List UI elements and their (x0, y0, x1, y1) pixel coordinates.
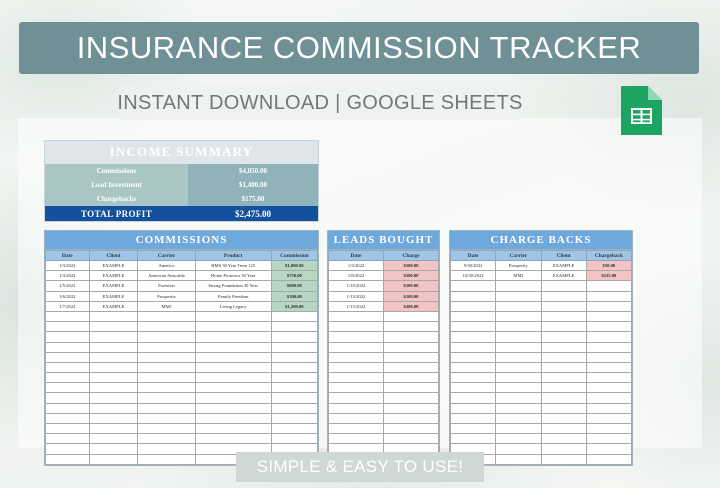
column-header-1: Client (89, 251, 138, 261)
cell-empty[interactable] (541, 403, 586, 413)
cell-date[interactable]: 1/15/2022 (329, 301, 384, 311)
cell-empty[interactable] (586, 362, 631, 372)
cell-client[interactable]: EXAMPLE (541, 261, 586, 271)
table-row-empty[interactable] (46, 413, 318, 423)
table-row-empty[interactable] (46, 393, 318, 403)
cell-empty[interactable] (195, 362, 271, 372)
commissions-table: COMMISSIONS DateClientCarrierProductComm… (44, 230, 319, 466)
cell-empty[interactable] (329, 424, 384, 434)
cell-empty[interactable] (46, 362, 90, 372)
column-header-4: Commission (271, 251, 317, 261)
table-row[interactable]: 1/3/2022EXAMPLEAmerican AmicableHome Pro… (46, 271, 318, 281)
cell-empty[interactable] (496, 322, 541, 332)
cell-empty[interactable] (541, 311, 586, 321)
cell-empty[interactable] (329, 403, 384, 413)
table-row-empty[interactable] (329, 383, 439, 393)
cell-empty[interactable] (586, 434, 631, 444)
cell-empty[interactable] (46, 454, 90, 464)
table-row-empty[interactable] (451, 403, 632, 413)
table-row-empty[interactable] (451, 352, 632, 362)
cell-empty[interactable] (586, 322, 631, 332)
cell-carrier[interactable]: Foresters (138, 281, 195, 291)
cell-empty[interactable] (89, 362, 138, 372)
income-summary-row: Chargebacks $175.00 (45, 192, 318, 206)
cell-empty[interactable] (271, 403, 317, 413)
cell-empty[interactable] (541, 444, 586, 454)
cell-empty[interactable] (329, 393, 384, 403)
table-row-empty[interactable] (451, 332, 632, 342)
cell-charge[interactable]: $100.00 (384, 281, 439, 291)
table-row[interactable]: 1/6/2022EXAMPLEProsperityFamily Freedom$… (46, 291, 318, 301)
footer-text: SIMPLE & EASY TO USE! (257, 457, 464, 477)
cell-empty[interactable] (138, 424, 195, 434)
cell-empty[interactable] (541, 352, 586, 362)
cell-empty[interactable] (451, 413, 496, 423)
cell-empty[interactable] (384, 434, 439, 444)
column-header-3: Chargeback (586, 251, 631, 261)
cell-empty[interactable] (329, 342, 384, 352)
table-row-empty[interactable] (329, 373, 439, 383)
cell-empty[interactable] (195, 332, 271, 342)
income-row-label: Commissions (45, 164, 188, 178)
cell-empty[interactable] (384, 342, 439, 352)
cell-empty[interactable] (496, 403, 541, 413)
cell-empty[interactable] (586, 424, 631, 434)
cell-client[interactable]: EXAMPLE (89, 291, 138, 301)
cell-empty[interactable] (384, 322, 439, 332)
table-row-empty[interactable] (451, 434, 632, 444)
table-row[interactable]: 1/15/2022$200.00 (329, 301, 439, 311)
charge-backs-title: CHARGE BACKS (450, 231, 632, 250)
income-row-label: Lead Investment (45, 178, 188, 192)
commissions-grid: DateClientCarrierProductCommission 1/3/2… (45, 250, 318, 465)
cell-empty[interactable] (451, 291, 496, 301)
cell-client[interactable]: EXAMPLE (89, 281, 138, 291)
cell-empty[interactable] (271, 342, 317, 352)
cell-empty[interactable] (384, 352, 439, 362)
cell-empty[interactable] (586, 311, 631, 321)
cell-empty[interactable] (138, 403, 195, 413)
cell-date[interactable]: 1/8/2022 (329, 271, 384, 281)
cell-charge[interactable]: $500.00 (384, 271, 439, 281)
cell-charge[interactable]: $200.00 (384, 301, 439, 311)
cell-empty[interactable] (451, 373, 496, 383)
table-row-empty[interactable] (451, 362, 632, 372)
table-row[interactable]: 1/8/2022$500.00 (329, 271, 439, 281)
cell-empty[interactable] (586, 413, 631, 423)
table-row-empty[interactable] (46, 383, 318, 393)
main-title-banner: INSURANCE COMMISSION TRACKER (19, 22, 699, 74)
column-header-2: Client (541, 251, 586, 261)
cell-date[interactable]: 1/3/2022 (46, 261, 90, 271)
table-row[interactable]: 1/3/2022$500.00 (329, 261, 439, 271)
table-row-empty[interactable] (46, 434, 318, 444)
table-row-empty[interactable] (451, 424, 632, 434)
cell-empty[interactable] (138, 434, 195, 444)
cell-empty[interactable] (384, 413, 439, 423)
cell-empty[interactable] (46, 311, 90, 321)
cell-empty[interactable] (541, 342, 586, 352)
total-profit-row: TOTAL PROFIT $2,475.00 (45, 206, 318, 221)
cell-carrier[interactable]: MMJ (496, 271, 541, 281)
cell-empty[interactable] (271, 413, 317, 423)
cell-date[interactable]: 1/3/2022 (46, 271, 90, 281)
cell-empty[interactable] (541, 301, 586, 311)
cell-empty[interactable] (271, 362, 317, 372)
cell-product[interactable]: HMS 30 Year Term 125 (195, 261, 271, 271)
cell-date[interactable]: 1/10/2022 (329, 281, 384, 291)
table-row-empty[interactable] (451, 301, 632, 311)
cell-empty[interactable] (138, 413, 195, 423)
cell-empty[interactable] (541, 362, 586, 372)
cell-empty[interactable] (89, 413, 138, 423)
table-row[interactable]: 1/13/2022$100.00 (329, 291, 439, 301)
cell-empty[interactable] (384, 311, 439, 321)
cell-empty[interactable] (384, 403, 439, 413)
table-row-empty[interactable] (451, 322, 632, 332)
commissions-title: COMMISSIONS (45, 231, 318, 250)
table-row-empty[interactable] (329, 434, 439, 444)
income-summary-title: INCOME SUMMARY (45, 141, 318, 164)
cell-commission[interactable]: $1,200.00 (271, 301, 317, 311)
cell-empty[interactable] (496, 352, 541, 362)
cell-client[interactable]: EXAMPLE (89, 261, 138, 271)
income-row-value: $175.00 (188, 192, 318, 206)
cell-empty[interactable] (384, 383, 439, 393)
cell-empty[interactable] (46, 332, 90, 342)
cell-carrier[interactable]: MMJ (138, 301, 195, 311)
cell-empty[interactable] (46, 383, 90, 393)
cell-empty[interactable] (89, 454, 138, 464)
cell-empty[interactable] (496, 342, 541, 352)
cell-empty[interactable] (586, 403, 631, 413)
cell-empty[interactable] (541, 393, 586, 403)
cell-empty[interactable] (586, 383, 631, 393)
cell-date[interactable]: 1/3/2022 (329, 261, 384, 271)
table-row-empty[interactable] (46, 424, 318, 434)
cell-commission[interactable]: $800.00 (271, 281, 317, 291)
cell-empty[interactable] (496, 383, 541, 393)
cell-empty[interactable] (329, 434, 384, 444)
cell-empty[interactable] (541, 332, 586, 342)
cell-empty[interactable] (586, 281, 631, 291)
cell-empty[interactable] (496, 301, 541, 311)
cell-commission[interactable]: $1,000.00 (271, 261, 317, 271)
cell-empty[interactable] (384, 373, 439, 383)
cell-empty[interactable] (195, 342, 271, 352)
table-row-empty[interactable] (46, 362, 318, 372)
cell-empty[interactable] (138, 342, 195, 352)
cell-empty[interactable] (496, 444, 541, 454)
cell-empty[interactable] (384, 332, 439, 342)
cell-empty[interactable] (46, 342, 90, 352)
cell-empty[interactable] (384, 424, 439, 434)
cell-empty[interactable] (89, 342, 138, 352)
table-row-empty[interactable] (329, 311, 439, 321)
cell-empty[interactable] (138, 352, 195, 362)
table-row-empty[interactable] (46, 352, 318, 362)
cell-empty[interactable] (329, 373, 384, 383)
cell-empty[interactable] (384, 362, 439, 372)
page-title: INSURANCE COMMISSION TRACKER (77, 30, 642, 66)
table-row-empty[interactable] (329, 362, 439, 372)
cell-empty[interactable] (329, 332, 384, 342)
cell-empty[interactable] (195, 373, 271, 383)
cell-product[interactable]: Living Legacy (195, 301, 271, 311)
cell-empty[interactable] (586, 291, 631, 301)
footer-banner: SIMPLE & EASY TO USE! (236, 452, 484, 482)
income-row-value: $4,050.00 (188, 164, 318, 178)
cell-empty[interactable] (138, 322, 195, 332)
cell-empty[interactable] (451, 424, 496, 434)
column-header-0: Date (451, 251, 496, 261)
cell-empty[interactable] (496, 281, 541, 291)
leads-header-row: DateCharge (329, 251, 439, 261)
table-row[interactable]: 1/3/2022EXAMPLEAmericoHMS 30 Year Term 1… (46, 261, 318, 271)
cell-empty[interactable] (329, 413, 384, 423)
cell-product[interactable]: Strong Foundation 30 Year (195, 281, 271, 291)
cell-empty[interactable] (496, 454, 541, 464)
cell-charge[interactable]: $500.00 (384, 261, 439, 271)
cell-empty[interactable] (329, 362, 384, 372)
cell-empty[interactable] (496, 413, 541, 423)
cell-empty[interactable] (329, 311, 384, 321)
cell-empty[interactable] (271, 311, 317, 321)
cell-empty[interactable] (451, 322, 496, 332)
cell-empty[interactable] (195, 434, 271, 444)
table-row-empty[interactable] (451, 281, 632, 291)
cell-empty[interactable] (586, 454, 631, 464)
cell-empty[interactable] (89, 424, 138, 434)
cell-empty[interactable] (541, 454, 586, 464)
cell-client[interactable]: EXAMPLE (89, 271, 138, 281)
cell-charge[interactable]: $100.00 (384, 291, 439, 301)
leads-bought-grid: DateCharge 1/3/2022$500.001/8/2022$500.0… (328, 250, 439, 465)
cell-empty[interactable] (271, 424, 317, 434)
cell-carrier[interactable]: Prosperity (496, 261, 541, 271)
cell-empty[interactable] (496, 393, 541, 403)
cell-empty[interactable] (329, 352, 384, 362)
table-row-empty[interactable] (46, 332, 318, 342)
cell-empty[interactable] (89, 383, 138, 393)
table-row-empty[interactable] (451, 291, 632, 301)
cell-product[interactable]: Family Freedom (195, 291, 271, 301)
cell-empty[interactable] (89, 393, 138, 403)
cell-empty[interactable] (271, 352, 317, 362)
cell-empty[interactable] (271, 393, 317, 403)
table-row-empty[interactable] (46, 311, 318, 321)
cell-date[interactable]: 1/6/2022 (46, 291, 90, 301)
cell-empty[interactable] (586, 352, 631, 362)
cell-client[interactable]: EXAMPLE (541, 271, 586, 281)
cell-empty[interactable] (384, 393, 439, 403)
table-row-empty[interactable] (451, 311, 632, 321)
cell-empty[interactable] (89, 322, 138, 332)
cell-empty[interactable] (451, 281, 496, 291)
cell-empty[interactable] (46, 352, 90, 362)
table-row[interactable]: 9/30/2022ProsperityEXAMPLE$50.00 (451, 261, 632, 271)
cell-date[interactable]: 1/7/2022 (46, 301, 90, 311)
cell-empty[interactable] (496, 311, 541, 321)
table-row-empty[interactable] (451, 413, 632, 423)
chargebacks-body: 9/30/2022ProsperityEXAMPLE$50.0010/30/20… (451, 261, 632, 465)
cell-empty[interactable] (89, 332, 138, 342)
table-row-empty[interactable] (46, 342, 318, 352)
cell-empty[interactable] (138, 373, 195, 383)
cell-empty[interactable] (89, 444, 138, 454)
cell-empty[interactable] (138, 444, 195, 454)
cell-date[interactable]: 9/30/2022 (451, 261, 496, 271)
cell-empty[interactable] (138, 393, 195, 403)
cell-commission[interactable]: $300.00 (271, 291, 317, 301)
table-row[interactable]: 1/10/2022$100.00 (329, 281, 439, 291)
table-row-empty[interactable] (329, 332, 439, 342)
cell-empty[interactable] (451, 332, 496, 342)
google-sheets-icon (621, 86, 662, 135)
cell-chargeback[interactable]: $50.00 (586, 261, 631, 271)
cell-empty[interactable] (89, 373, 138, 383)
cell-empty[interactable] (46, 413, 90, 423)
table-row-empty[interactable] (46, 373, 318, 383)
cell-commission[interactable]: $750.00 (271, 271, 317, 281)
cell-empty[interactable] (138, 454, 195, 464)
cell-empty[interactable] (46, 424, 90, 434)
cell-empty[interactable] (586, 332, 631, 342)
cell-empty[interactable] (541, 322, 586, 332)
cell-date[interactable]: 10/30/2022 (451, 271, 496, 281)
cell-product[interactable]: Home Protector 30 Year (195, 271, 271, 281)
column-header-1: Carrier (496, 251, 541, 261)
cell-date[interactable]: 1/5/2022 (46, 281, 90, 291)
cell-empty[interactable] (541, 424, 586, 434)
table-row-empty[interactable] (329, 413, 439, 423)
cell-empty[interactable] (451, 362, 496, 372)
cell-client[interactable]: EXAMPLE (89, 301, 138, 311)
cell-empty[interactable] (195, 413, 271, 423)
cell-carrier[interactable]: American Amicable (138, 271, 195, 281)
income-summary-row: Lead Investment $1,400.00 (45, 178, 318, 192)
cell-empty[interactable] (451, 311, 496, 321)
cell-empty[interactable] (496, 373, 541, 383)
table-row-empty[interactable] (46, 322, 318, 332)
table-row-empty[interactable] (451, 373, 632, 383)
cell-empty[interactable] (138, 362, 195, 372)
cell-empty[interactable] (271, 373, 317, 383)
cell-empty[interactable] (195, 403, 271, 413)
cell-empty[interactable] (496, 362, 541, 372)
income-summary-row: Commissions $4,050.00 (45, 164, 318, 178)
cell-empty[interactable] (195, 424, 271, 434)
cell-empty[interactable] (46, 444, 90, 454)
cell-empty[interactable] (89, 434, 138, 444)
subtitle-banner: INSTANT DOWNLOAD | GOOGLE SHEETS (120, 86, 520, 120)
income-row-label: Chargebacks (45, 192, 188, 206)
cell-empty[interactable] (586, 444, 631, 454)
cell-empty[interactable] (329, 383, 384, 393)
table-row-empty[interactable] (451, 383, 632, 393)
table-row-empty[interactable] (329, 393, 439, 403)
cell-date[interactable]: 1/13/2022 (329, 291, 384, 301)
cell-empty[interactable] (195, 352, 271, 362)
cell-empty[interactable] (451, 342, 496, 352)
cell-empty[interactable] (451, 393, 496, 403)
table-row-empty[interactable] (329, 424, 439, 434)
cell-empty[interactable] (138, 383, 195, 393)
cell-empty[interactable] (541, 291, 586, 301)
table-row-empty[interactable] (329, 342, 439, 352)
cell-empty[interactable] (586, 342, 631, 352)
cell-empty[interactable] (195, 311, 271, 321)
cell-empty[interactable] (89, 311, 138, 321)
cell-empty[interactable] (541, 383, 586, 393)
cell-empty[interactable] (271, 322, 317, 332)
cell-empty[interactable] (271, 332, 317, 342)
cell-empty[interactable] (89, 403, 138, 413)
cell-empty[interactable] (541, 413, 586, 423)
cell-empty[interactable] (46, 322, 90, 332)
cell-empty[interactable] (195, 393, 271, 403)
cell-empty[interactable] (451, 352, 496, 362)
cell-empty[interactable] (46, 434, 90, 444)
commissions-body: 1/3/2022EXAMPLEAmericoHMS 30 Year Term 1… (46, 261, 318, 465)
cell-empty[interactable] (195, 322, 271, 332)
cell-empty[interactable] (496, 424, 541, 434)
income-row-value: $1,400.00 (188, 178, 318, 192)
cell-carrier[interactable]: Prosperity (138, 291, 195, 301)
table-row[interactable]: 1/7/2022EXAMPLEMMJLiving Legacy$1,200.00 (46, 301, 318, 311)
table-row[interactable]: 10/30/2022MMJEXAMPLE$125.00 (451, 271, 632, 281)
table-row-empty[interactable] (451, 342, 632, 352)
charge-backs-grid: DateCarrierClientChargeback 9/30/2022Pro… (450, 250, 632, 465)
cell-chargeback[interactable]: $125.00 (586, 271, 631, 281)
cell-empty[interactable] (496, 291, 541, 301)
cell-empty[interactable] (138, 311, 195, 321)
table-row-empty[interactable] (46, 403, 318, 413)
cell-empty[interactable] (89, 352, 138, 362)
cell-empty[interactable] (329, 322, 384, 332)
subtitle-text: INSTANT DOWNLOAD | GOOGLE SHEETS (117, 92, 522, 115)
cell-empty[interactable] (46, 373, 90, 383)
cell-empty[interactable] (586, 373, 631, 383)
cell-empty[interactable] (541, 281, 586, 291)
cell-empty[interactable] (541, 434, 586, 444)
table-row-empty[interactable] (329, 352, 439, 362)
table-row-empty[interactable] (329, 322, 439, 332)
cell-empty[interactable] (271, 383, 317, 393)
cell-empty[interactable] (451, 301, 496, 311)
cell-empty[interactable] (271, 434, 317, 444)
cell-empty[interactable] (496, 434, 541, 444)
cell-empty[interactable] (46, 393, 90, 403)
table-row-empty[interactable] (329, 403, 439, 413)
column-header-0: Date (46, 251, 90, 261)
cell-empty[interactable] (451, 403, 496, 413)
cell-empty[interactable] (496, 332, 541, 342)
table-row-empty[interactable] (451, 393, 632, 403)
income-summary-panel: INCOME SUMMARY Commissions $4,050.00 Lea… (44, 140, 319, 222)
cell-empty[interactable] (195, 383, 271, 393)
cell-empty[interactable] (586, 301, 631, 311)
cell-empty[interactable] (46, 403, 90, 413)
cell-empty[interactable] (586, 393, 631, 403)
cell-empty[interactable] (451, 383, 496, 393)
cell-empty[interactable] (451, 434, 496, 444)
cell-empty[interactable] (541, 373, 586, 383)
cell-carrier[interactable]: Americo (138, 261, 195, 271)
cell-empty[interactable] (138, 332, 195, 342)
table-row[interactable]: 1/5/2022EXAMPLEForestersStrong Foundatio… (46, 281, 318, 291)
leads-bought-table: LEADS BOUGHT DateCharge 1/3/2022$500.001… (327, 230, 440, 466)
